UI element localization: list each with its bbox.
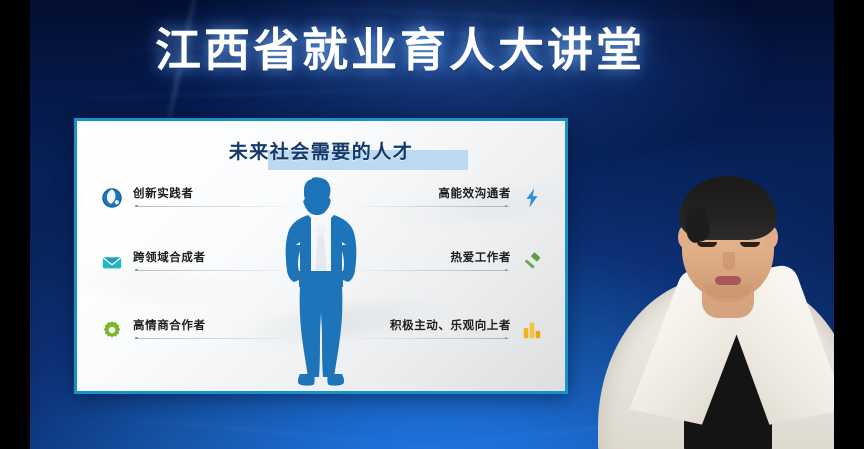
presenter-webcam (592, 160, 834, 449)
feature-label: 高情商合作者 (133, 317, 206, 333)
connector-line (357, 338, 509, 339)
slide-title: 未来社会需要的人才 (229, 137, 414, 164)
connector-dot (135, 205, 138, 208)
video-frame: 江西省就业育人大讲堂 未来社会需要的人才 (30, 0, 834, 449)
gear-icon (101, 319, 123, 341)
feature-item-left-2: 跨领域合成者 (91, 249, 301, 293)
connector-line (135, 338, 287, 339)
slide-title-area: 未来社会需要的人才 (77, 137, 565, 164)
feature-label: 高能效沟通者 (438, 185, 511, 201)
connector-line (135, 206, 287, 207)
broadcast-main-title: 江西省就业育人大讲堂 (60, 26, 740, 74)
presenter-mouth (715, 276, 741, 285)
feature-item-left-1: 创新实践者 (91, 185, 301, 229)
presenter-eye-left (697, 242, 717, 247)
pillarbox-left (0, 0, 30, 449)
feature-item-left-3: 高情商合作者 (91, 317, 301, 361)
presentation-slide: 未来社会需要的人才 (74, 118, 568, 394)
slide-canvas: 未来社会需要的人才 (77, 121, 565, 391)
connector-dot (505, 205, 508, 208)
connector-dot (135, 337, 138, 340)
feature-item-right-3: 积极主动、乐观向上者 (331, 317, 551, 361)
globe-icon (101, 187, 123, 209)
feature-label: 热爱工作者 (451, 249, 512, 265)
connector-line (357, 206, 509, 207)
connector-line (135, 270, 287, 271)
broadcast-stage: 江西省就业育人大讲堂 未来社会需要的人才 (0, 0, 864, 449)
presenter-hair (679, 176, 777, 240)
envelope-icon (101, 251, 123, 273)
bar-chart-icon (521, 319, 543, 341)
presenter-eye-right (740, 242, 760, 247)
lightning-bolt-icon (521, 187, 543, 209)
feature-item-right-2: 热爱工作者 (331, 249, 551, 293)
feature-label: 跨领域合成者 (133, 249, 206, 265)
feature-label: 创新实践者 (133, 185, 194, 201)
feature-label: 积极主动、乐观向上者 (390, 317, 511, 333)
connector-line (357, 270, 509, 271)
feature-item-right-1: 高能效沟通者 (331, 185, 551, 229)
gavel-icon (521, 251, 543, 273)
connector-dot (505, 269, 508, 272)
connector-dot (135, 269, 138, 272)
connector-dot (505, 337, 508, 340)
presenter-nose (723, 252, 735, 270)
pillarbox-right (834, 0, 864, 449)
